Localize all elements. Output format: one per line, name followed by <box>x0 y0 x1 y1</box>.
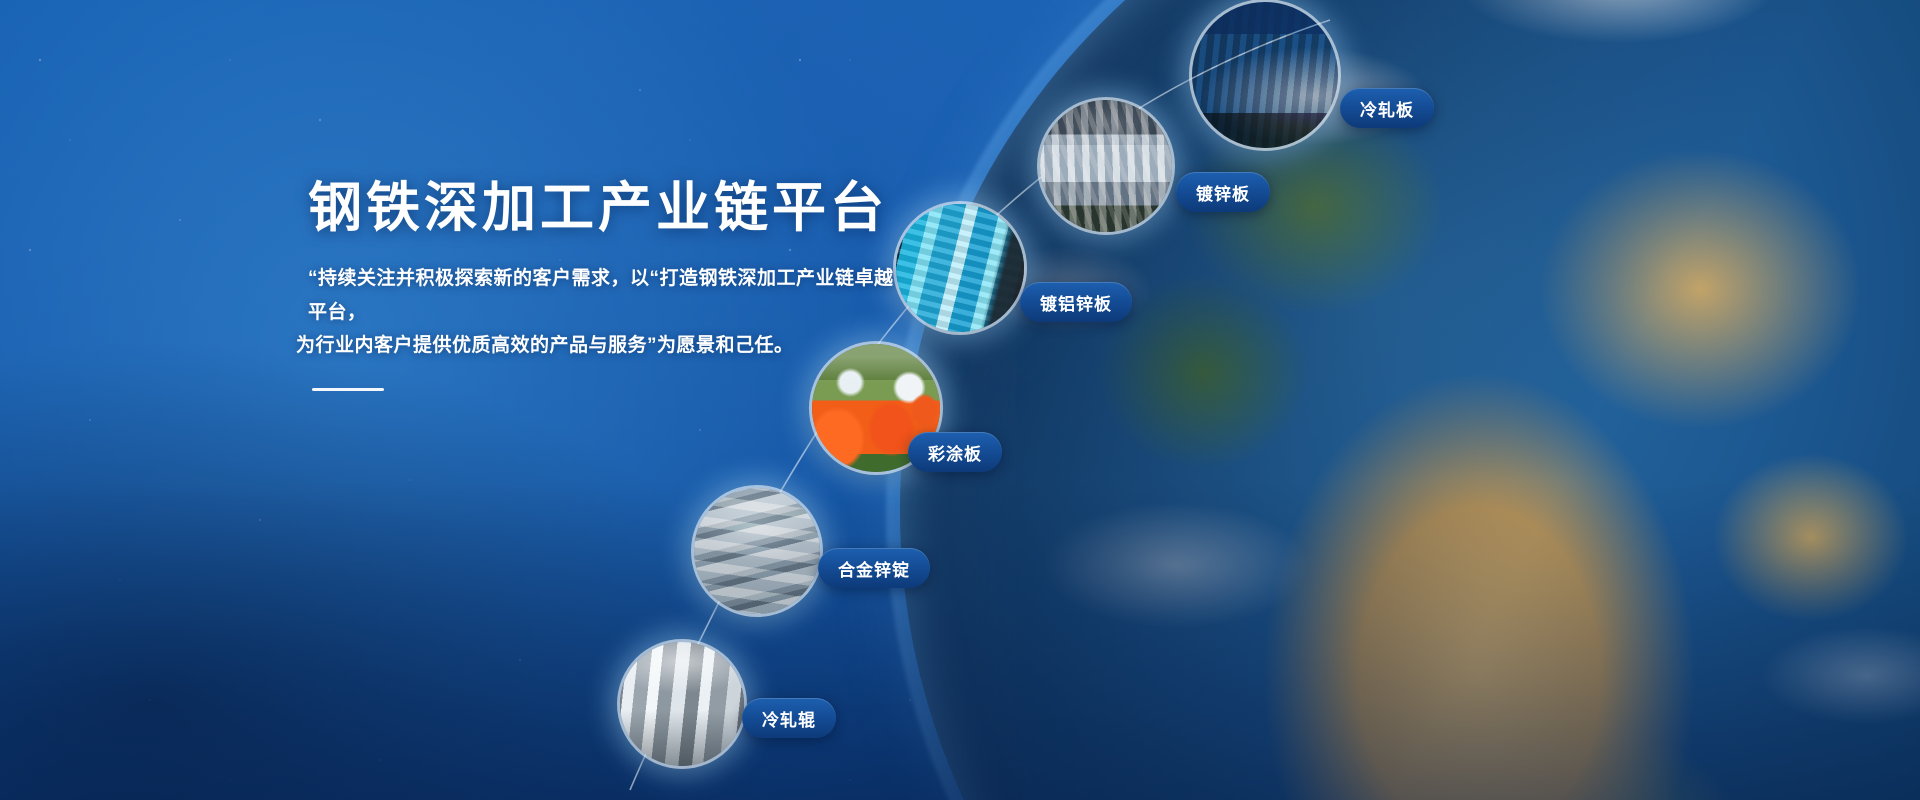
product-label-zinc-alloy-ingot[interactable]: 合金锌锭 <box>818 548 930 588</box>
product-label-cold-rolling-roll[interactable]: 冷轧辊 <box>742 698 836 738</box>
hero-subtitle-line-1: “持续关注并积极探索新的客户需求，以“打造钢铁深加工产业链卓越平台， <box>308 262 908 328</box>
product-label-galvalume-sheet[interactable]: 镀铝锌板 <box>1020 282 1132 322</box>
hero-subtitle-line-2: 为行业内客户提供优质高效的产品与服务”为愿景和己任。 <box>296 329 908 362</box>
starfield-texture <box>0 0 1920 800</box>
zinc-alloy-ingot-photo[interactable] <box>694 488 820 614</box>
galvalume-sheet-illustration <box>896 204 1024 332</box>
starfield-texture-fine <box>0 0 1920 800</box>
hero-subtitle: “持续关注并积极探索新的客户需求，以“打造钢铁深加工产业链卓越平台， 为行业内客… <box>308 262 908 361</box>
page-title: 钢铁深加工产业链平台 <box>308 178 908 238</box>
steel-coil-photo[interactable] <box>1192 2 1338 148</box>
galvanized-warehouse-illustration <box>1040 100 1172 232</box>
steel-coil-illustration <box>1192 2 1338 148</box>
cold-rolling-roll-photo[interactable] <box>620 642 744 766</box>
product-label-color-coated-sheet[interactable]: 彩涂板 <box>908 432 1002 472</box>
galvanized-coil-warehouse-photo[interactable] <box>1040 100 1172 232</box>
product-label-galvanized-sheet[interactable]: 镀锌板 <box>1176 172 1270 212</box>
product-connector-arc <box>0 0 1920 800</box>
product-label-cold-rolled-sheet[interactable]: 冷轧板 <box>1340 88 1434 128</box>
zinc-ingot-illustration <box>694 488 820 614</box>
cold-rolling-roll-illustration <box>620 642 744 766</box>
vignette-overlay <box>0 0 1920 800</box>
hero-banner: 冷轧板 镀锌板 镀铝锌板 彩涂板 合金锌锭 冷轧辊 钢铁深加工产业链平台 <box>0 0 1920 800</box>
galvalume-sheet-photo[interactable] <box>896 204 1024 332</box>
headline-divider-rule <box>312 388 384 391</box>
hero-copy-block: 钢铁深加工产业链平台 “持续关注并积极探索新的客户需求，以“打造钢铁深加工产业链… <box>308 178 908 391</box>
